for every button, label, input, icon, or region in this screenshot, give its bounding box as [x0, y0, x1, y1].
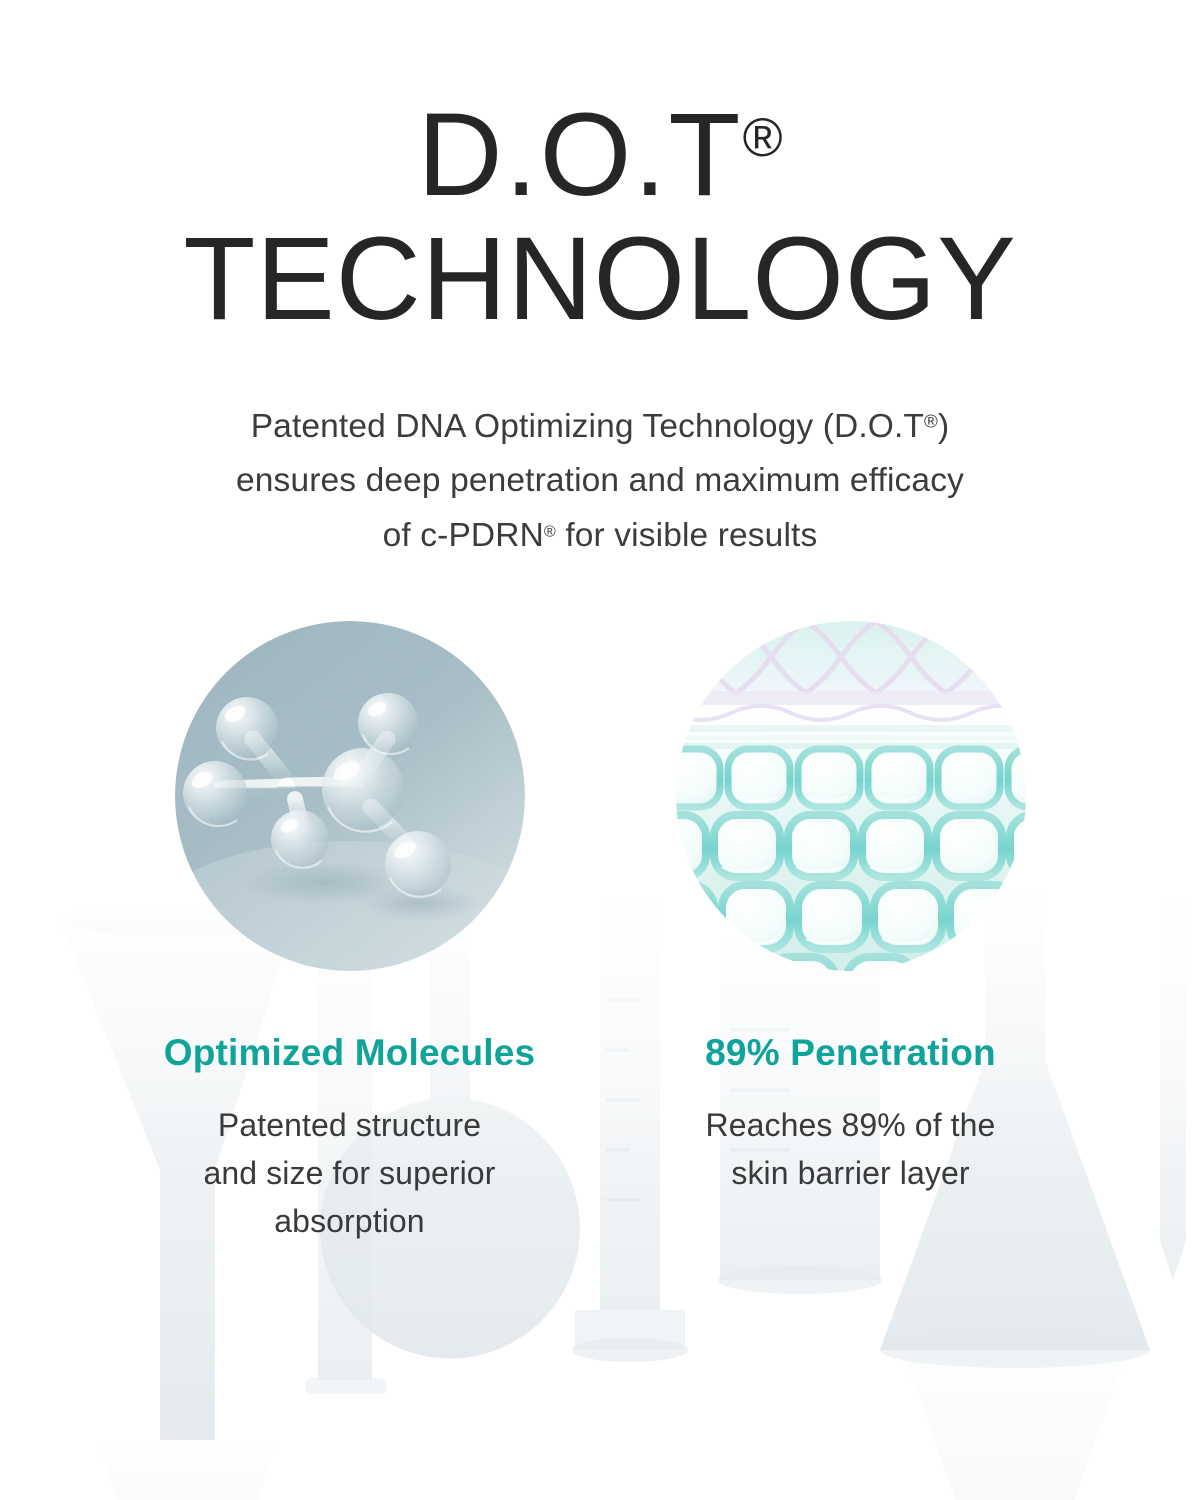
page-title-primary: D.O.T® — [0, 96, 1200, 214]
feature-penetration: 89% Penetration Reaches 89% of the skin … — [613, 621, 1088, 1198]
registered-trademark-icon: ® — [544, 522, 556, 540]
subtitle-line-2: ensures deep penetration and maximum eff… — [0, 454, 1200, 508]
page-title-text: D.O.T — [417, 89, 742, 221]
feature-optimized-molecules: Optimized Molecules Patented structure a… — [112, 621, 587, 1246]
feature-columns: Optimized Molecules Patented structure a… — [0, 621, 1200, 1246]
dot-technology-infographic: D.O.T® TECHNOLOGY Patented DNA Optimizin… — [0, 0, 1200, 1500]
registered-trademark-icon: ® — [924, 410, 938, 431]
page-heading-block: D.O.T® TECHNOLOGY — [0, 0, 1200, 338]
feature-body-line: Reaches 89% of the — [706, 1101, 996, 1149]
skin-barrier-image-circle — [676, 621, 1026, 971]
feature-title-optimized-molecules: Optimized Molecules — [164, 1033, 536, 1074]
feature-body-optimized-molecules: Patented structure and size for superior… — [204, 1101, 496, 1245]
feature-title-penetration: 89% Penetration — [705, 1033, 996, 1074]
feature-body-penetration: Reaches 89% of the skin barrier layer — [706, 1101, 996, 1197]
page-title-secondary: TECHNOLOGY — [0, 220, 1200, 338]
feature-body-line: Patented structure — [204, 1101, 496, 1149]
subtitle-line-1: Patented DNA Optimizing Technology (D.O.… — [0, 400, 1200, 454]
molecule-image-circle — [175, 621, 525, 971]
subtitle-line-3-rest: for visible results — [556, 517, 817, 554]
subtitle-line-3: of c-PDRN® for visible results — [0, 509, 1200, 563]
feature-body-line: and size for superior — [204, 1149, 496, 1197]
page-subtitle: Patented DNA Optimizing Technology (D.O.… — [0, 400, 1200, 563]
subtitle-line-1-close: ) — [938, 408, 949, 445]
feature-body-line: absorption — [204, 1197, 496, 1245]
subtitle-line-3-text: of c-PDRN — [383, 517, 544, 554]
registered-trademark-icon: ® — [743, 107, 783, 168]
feature-body-line: skin barrier layer — [706, 1149, 996, 1197]
subtitle-line-1-text: Patented DNA Optimizing Technology (D.O.… — [251, 408, 924, 445]
